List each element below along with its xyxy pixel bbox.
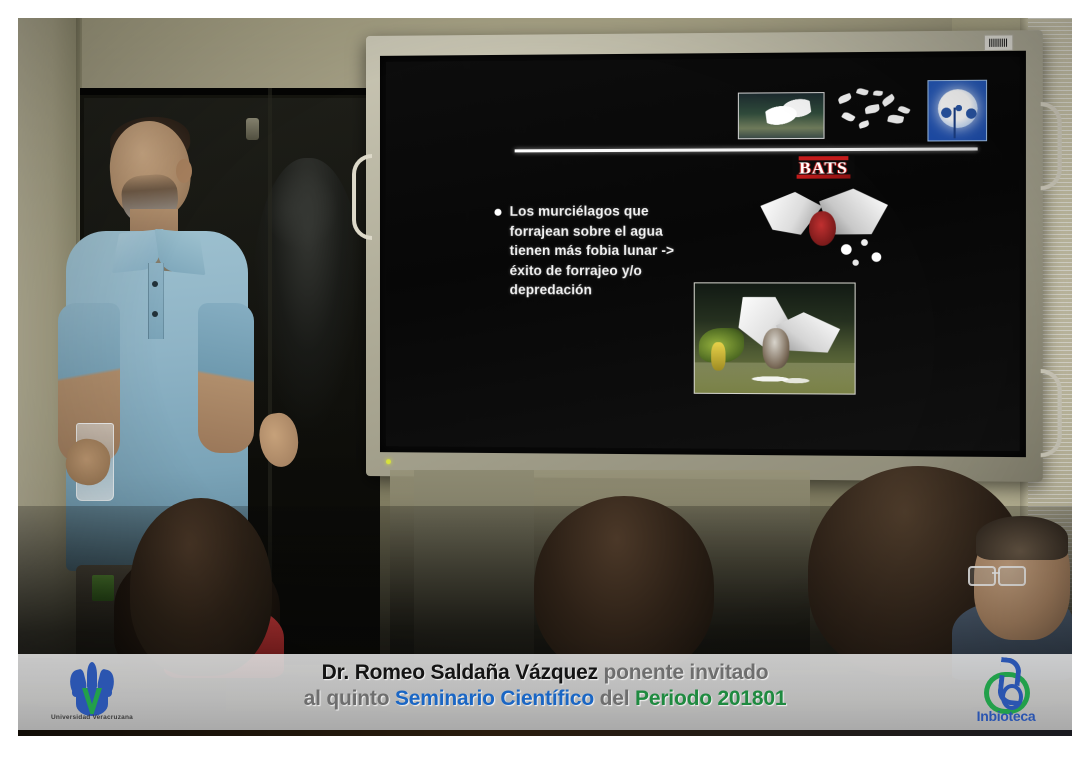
slide-screen: Los murciélagos que forrajean sobre el a… — [386, 57, 1020, 451]
display-label-sticker — [984, 34, 1013, 51]
inbioteca-mark — [982, 658, 1032, 708]
caption-bar: Universidad Veracruzana Dr. Romeo Saldañ… — [18, 654, 1072, 736]
full-moon-with-branch — [927, 80, 987, 142]
bullet-marker — [494, 209, 501, 216]
photo-bottom-edge — [18, 730, 1072, 736]
caption-connector: del — [594, 687, 635, 710]
caption-prefix: al quinto — [304, 687, 395, 710]
display-handle-left[interactable] — [352, 154, 372, 240]
audience-eyeglasses — [968, 566, 1026, 584]
audience-member-2 — [534, 496, 714, 676]
caption-line-1: Dr. Romeo Saldaña Vázquez ponente invita… — [18, 660, 1072, 686]
presentation-display: Los murciélagos que forrajean sobre el a… — [366, 30, 1043, 482]
presenter-name: Dr. Romeo Saldaña Vázquez — [322, 661, 598, 684]
presenter-shirt-placket — [148, 263, 164, 339]
slide-bullet: Los murciélagos que forrajean sobre el a… — [494, 201, 687, 300]
uv-logo-caption: Universidad Veracruzana — [40, 714, 144, 721]
presenter-role: ponente invitado — [598, 661, 768, 684]
inbioteca-logo-caption: Inbioteca — [958, 708, 1054, 724]
audience-member-1 — [130, 498, 272, 676]
slide-divider-line — [515, 147, 978, 152]
cabinet-reflection-head — [264, 168, 338, 250]
seminar-name: Seminario Científico — [395, 687, 594, 710]
display-handle-right-top[interactable] — [1041, 102, 1062, 190]
audience-member-4-hair — [976, 516, 1068, 560]
display-power-led — [386, 459, 391, 464]
slide-content: Los murciélagos que forrajean sobre el a… — [386, 57, 1020, 451]
slide-bullet-text: Los murciélagos que forrajean sobre el a… — [510, 201, 688, 300]
flying-bats-cluster — [834, 86, 917, 140]
display-handle-right-bottom[interactable] — [1041, 369, 1062, 457]
bats-magazine-logo: BATS — [792, 156, 854, 179]
bat-catching-prey — [764, 178, 888, 270]
period-label: Periodo 201801 — [635, 687, 786, 710]
bat-over-water-thumbnail — [738, 92, 825, 139]
caption-line-2: al quinto Seminario Científico del Perio… — [18, 686, 1072, 712]
event-photograph: Los murciélagos que forrajean sobre el a… — [18, 18, 1072, 736]
presenter-right-arm — [198, 303, 254, 453]
photo-frame: Los murciélagos que forrajean sobre el a… — [0, 0, 1090, 760]
bat-drinking-over-water — [694, 282, 856, 394]
shirt-button-bottom — [152, 311, 158, 317]
shirt-button-top — [152, 281, 158, 287]
presenter-ear — [176, 159, 192, 183]
caption-text-block: Dr. Romeo Saldaña Vázquez ponente invita… — [18, 660, 1072, 711]
inbioteca-logo: Inbioteca — [958, 658, 1054, 732]
